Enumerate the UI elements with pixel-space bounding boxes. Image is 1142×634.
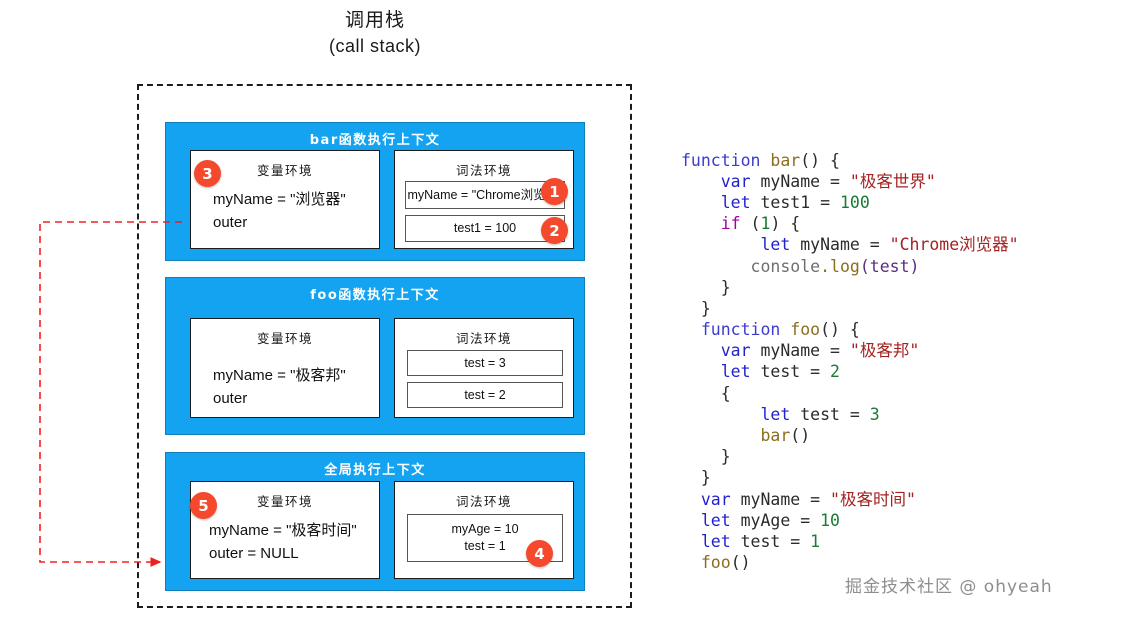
code-token: [681, 320, 701, 339]
execution-context-foo: foo函数执行上下文 变量环境 myName = "极客邦" outer 词法环…: [165, 277, 585, 435]
code-token: [780, 320, 790, 339]
code-token: var: [721, 172, 751, 191]
code-token: [681, 532, 701, 551]
execution-context-global: 全局执行上下文 变量环境 myName = "极客时间" outer = NUL…: [165, 452, 585, 591]
code-token: let: [760, 405, 790, 424]
lexical-environment-heading-global: 词法环境: [395, 482, 573, 510]
code-token: [681, 490, 701, 509]
diagram-title: 调用栈 (call stack): [255, 8, 495, 59]
code-token: ) {: [770, 214, 800, 233]
code-token: bar: [760, 426, 790, 445]
context-title-global: 全局执行上下文: [166, 453, 584, 478]
diagram-title-cn: 调用栈: [255, 8, 495, 34]
code-token: =: [830, 172, 850, 191]
code-token: (: [741, 214, 761, 233]
code-token: myName =: [790, 235, 889, 254]
code-token: (): [790, 426, 810, 445]
code-token: "极客邦": [850, 341, 919, 360]
var-line: outer: [213, 212, 379, 235]
code-token: test1 =: [751, 193, 840, 212]
code-line: let test1 = 100: [681, 192, 1136, 213]
code-token: "极客世界": [850, 172, 936, 191]
code-token: myName: [751, 172, 830, 191]
code-token: [681, 553, 701, 572]
code-token: }: [681, 299, 711, 318]
code-line: let test = 1: [681, 531, 1136, 552]
code-token: myName =: [751, 341, 850, 360]
code-token: [681, 511, 701, 530]
code-token: {: [681, 384, 731, 403]
code-token: let: [701, 532, 731, 551]
variable-environment-heading-foo: 变量环境: [191, 319, 379, 347]
context-title-foo: foo函数执行上下文: [166, 278, 584, 303]
variable-environment-lines-foo: myName = "极客邦" outer: [191, 347, 379, 410]
lexical-environment-heading-foo: 词法环境: [395, 319, 573, 347]
code-line: function foo() {: [681, 319, 1136, 340]
code-token: }: [681, 468, 711, 487]
watermark: 掘金技术社区 @ ohyeah: [845, 572, 1053, 597]
variable-environment-foo: 变量环境 myName = "极客邦" outer: [190, 318, 380, 418]
code-token: let: [760, 235, 790, 254]
code-token: () {: [800, 151, 840, 170]
code-token: test =: [790, 405, 869, 424]
code-token: 3: [870, 405, 880, 424]
code-token: var: [721, 341, 751, 360]
lexical-slot: test = 2: [407, 382, 563, 408]
code-token: 1: [761, 214, 771, 233]
code-token: (): [731, 553, 751, 572]
var-line: myName = "极客邦": [213, 365, 379, 388]
code-token: 2: [830, 362, 840, 381]
code-line: function bar() {: [681, 150, 1136, 171]
code-line: }: [681, 277, 1136, 298]
code-token: [681, 362, 721, 381]
code-token: foo: [701, 553, 731, 572]
code-line: {: [681, 383, 1136, 404]
context-title-bar: bar函数执行上下文: [166, 123, 584, 148]
code-line: if (1) {: [681, 213, 1136, 234]
code-token: console: [751, 257, 821, 276]
code-line: let test = 2: [681, 361, 1136, 382]
code-token: myName =: [731, 490, 830, 509]
lexical-slot-line: myAge = 10: [451, 521, 518, 538]
code-token: bar: [770, 151, 800, 170]
code-token: [681, 193, 721, 212]
code-line: }: [681, 298, 1136, 319]
execution-context-bar: bar函数执行上下文 变量环境 myName = "浏览器" outer 词法环…: [165, 122, 585, 261]
code-token: [681, 235, 760, 254]
code-token: "极客时间": [830, 490, 916, 509]
code-line: var myName = "极客邦": [681, 340, 1136, 361]
variable-environment-lines-bar: myName = "浏览器" outer: [191, 179, 379, 234]
code-line: let myName = "Chrome浏览器": [681, 234, 1136, 255]
code-token: }: [681, 447, 731, 466]
code-token: 1: [810, 532, 820, 551]
code-token: (test): [860, 257, 920, 276]
step-badge-5: 5: [190, 492, 217, 519]
code-token: myAge =: [731, 511, 820, 530]
code-token: [681, 172, 721, 191]
lexical-slot: test = 3: [407, 350, 563, 376]
var-line: myName = "浏览器": [213, 189, 379, 212]
variable-environment-heading-global: 变量环境: [191, 482, 379, 510]
code-token: [681, 426, 760, 445]
code-token: foo: [790, 320, 820, 339]
code-token: let: [701, 511, 731, 530]
code-token: let: [721, 362, 751, 381]
code-token: if: [721, 214, 741, 233]
step-badge-3: 3: [194, 160, 221, 187]
code-token: let: [721, 193, 751, 212]
step-badge-2: 2: [541, 217, 568, 244]
diagram-title-en: (call stack): [255, 34, 495, 59]
code-line: foo(): [681, 552, 1136, 573]
variable-environment-lines-global: myName = "极客时间" outer = NULL: [191, 510, 379, 565]
step-badge-4: 4: [526, 540, 553, 567]
code-line: }: [681, 467, 1136, 488]
code-token: .log: [820, 257, 860, 276]
code-line: console.log(test): [681, 256, 1136, 277]
code-line: bar(): [681, 425, 1136, 446]
code-token: [681, 405, 760, 424]
code-lines: function bar() { var myName = "极客世界" let…: [681, 150, 1136, 574]
code-token: function: [681, 151, 760, 170]
code-token: [760, 151, 770, 170]
code-token: test =: [751, 362, 830, 381]
code-line: let test = 3: [681, 404, 1136, 425]
code-token: [681, 341, 721, 360]
code-panel: function bar() { var myName = "极客世界" let…: [681, 86, 1136, 595]
code-token: 10: [820, 511, 840, 530]
lexical-environment-foo: 词法环境 test = 3 test = 2: [394, 318, 574, 418]
code-token: function: [701, 320, 780, 339]
code-token: 100: [840, 193, 870, 212]
code-line: var myName = "极客世界": [681, 171, 1136, 192]
var-line: outer: [213, 388, 379, 411]
code-line: let myAge = 10: [681, 510, 1136, 531]
code-token: }: [681, 278, 731, 297]
code-token: test =: [731, 532, 810, 551]
var-line: outer = NULL: [209, 543, 379, 566]
code-token: "Chrome浏览器": [890, 235, 1019, 254]
lexical-environment-heading-bar: 词法环境: [395, 151, 573, 179]
step-badge-1: 1: [541, 178, 568, 205]
lexical-slot-line: test = 1: [464, 538, 505, 555]
code-token: [681, 214, 721, 233]
code-token: [681, 257, 751, 276]
code-token: var: [701, 490, 731, 509]
var-line: myName = "极客时间": [209, 520, 379, 543]
variable-environment-global: 变量环境 myName = "极客时间" outer = NULL: [190, 481, 380, 579]
code-line: var myName = "极客时间": [681, 489, 1136, 510]
code-line: }: [681, 446, 1136, 467]
code-token: () {: [820, 320, 860, 339]
